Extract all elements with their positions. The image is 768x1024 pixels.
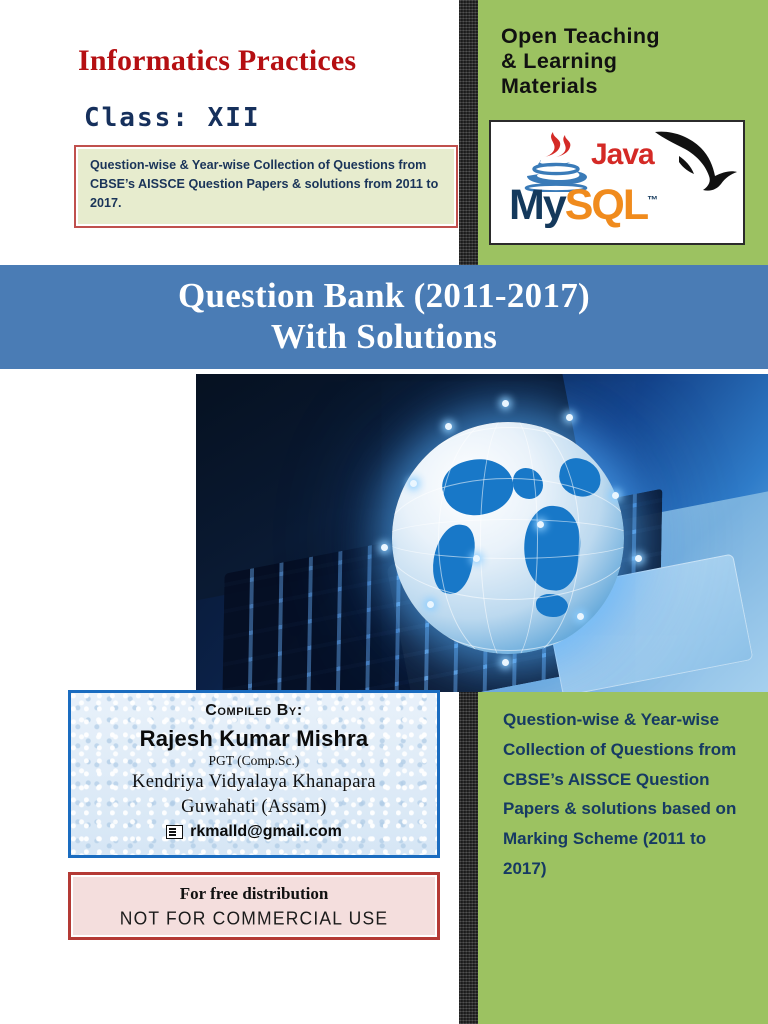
mail-icon bbox=[166, 825, 183, 839]
banner-line-2: With Solutions bbox=[178, 317, 590, 358]
vertical-divider-strip-bottom bbox=[459, 692, 478, 1024]
author-email-row: rkmalld@gmail.com bbox=[71, 823, 437, 841]
banner-line-1: Question Bank (2011-2017) bbox=[178, 276, 590, 317]
description-text: Question-wise & Year-wise Collection of … bbox=[76, 147, 456, 213]
document-cover-page: Informatics Practices Class: XII Questio… bbox=[0, 0, 768, 1024]
open-teaching-heading: Open Teaching & Learning Materials bbox=[501, 24, 751, 99]
author-name: Rajesh Kumar Mishra bbox=[71, 726, 437, 752]
java-wordmark: Java bbox=[591, 138, 654, 172]
green-panel-note: Question-wise & Year-wise Collection of … bbox=[503, 705, 743, 884]
network-node-overlay bbox=[364, 394, 652, 682]
author-email: rkmalld@gmail.com bbox=[190, 823, 342, 841]
author-school-line-2: Guwahati (Assam) bbox=[71, 796, 437, 819]
author-school-line-1: Kendriya Vidyalaya Khanapara bbox=[71, 771, 437, 794]
mysql-my-text: My bbox=[509, 181, 565, 229]
description-box: Question-wise & Year-wise Collection of … bbox=[74, 145, 458, 228]
open-teaching-line-2: & Learning bbox=[501, 49, 751, 74]
network-node bbox=[410, 480, 417, 487]
compiled-by-box: Compiled By: Rajesh Kumar Mishra PGT (Co… bbox=[68, 690, 440, 858]
vertical-divider-strip-top bbox=[459, 0, 478, 265]
network-node bbox=[635, 555, 642, 562]
network-node bbox=[537, 521, 544, 528]
network-node bbox=[381, 544, 388, 551]
main-title-text: Question Bank (2011-2017) With Solutions bbox=[178, 276, 590, 357]
mysql-trademark-symbol: ™ bbox=[647, 195, 658, 207]
network-node bbox=[502, 659, 509, 666]
java-mysql-logo-card: Java MySQL™ bbox=[489, 120, 745, 245]
open-teaching-line-3: Materials bbox=[501, 74, 751, 99]
class-label: Class: XII bbox=[84, 103, 444, 133]
compiled-by-heading: Compiled By: bbox=[71, 702, 437, 720]
open-teaching-line-1: Open Teaching bbox=[501, 24, 751, 49]
free-distribution-text: For free distribution bbox=[71, 884, 437, 904]
author-designation: PGT (Comp.Sc.) bbox=[71, 753, 437, 769]
network-node bbox=[427, 601, 434, 608]
hero-image-laptop-globe bbox=[196, 374, 768, 692]
not-for-commercial-use-text: NOT FOR COMMERCIAL USE bbox=[71, 907, 437, 929]
mysql-sql-text: SQL bbox=[565, 181, 647, 229]
mysql-wordmark: MySQL™ bbox=[509, 184, 739, 227]
subject-title: Informatics Practices bbox=[78, 44, 458, 78]
network-node bbox=[612, 492, 619, 499]
network-node bbox=[445, 423, 452, 430]
distribution-notice-box: For free distribution NOT FOR COMMERCIAL… bbox=[68, 872, 440, 940]
main-title-banner: Question Bank (2011-2017) With Solutions bbox=[0, 265, 768, 369]
network-node bbox=[577, 613, 584, 620]
network-node bbox=[473, 555, 480, 562]
network-node bbox=[502, 400, 509, 407]
network-node bbox=[566, 414, 573, 421]
